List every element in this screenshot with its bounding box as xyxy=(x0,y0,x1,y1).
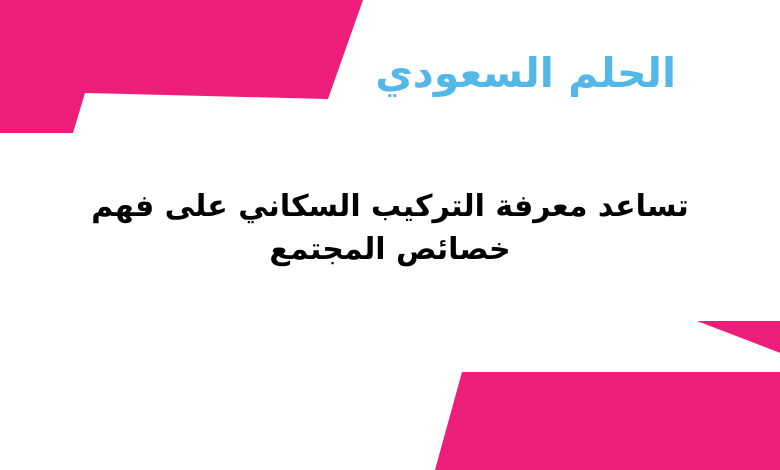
poster-canvas: الحلم السعودي تساعد معرفة التركيب السكان… xyxy=(0,0,780,470)
headline-block: تساعد معرفة التركيب السكاني على فهم خصائ… xyxy=(0,186,780,271)
bottom-right-banner-shape xyxy=(435,321,780,470)
top-left-banner-shape xyxy=(0,0,363,133)
headline-line-1: تساعد معرفة التركيب السكاني على فهم xyxy=(91,186,688,229)
headline-text: تساعد معرفة التركيب السكاني على فهم خصائ… xyxy=(91,186,688,271)
brand-title: الحلم السعودي xyxy=(375,44,676,103)
headline-line-2: خصائص المجتمع xyxy=(91,229,688,272)
